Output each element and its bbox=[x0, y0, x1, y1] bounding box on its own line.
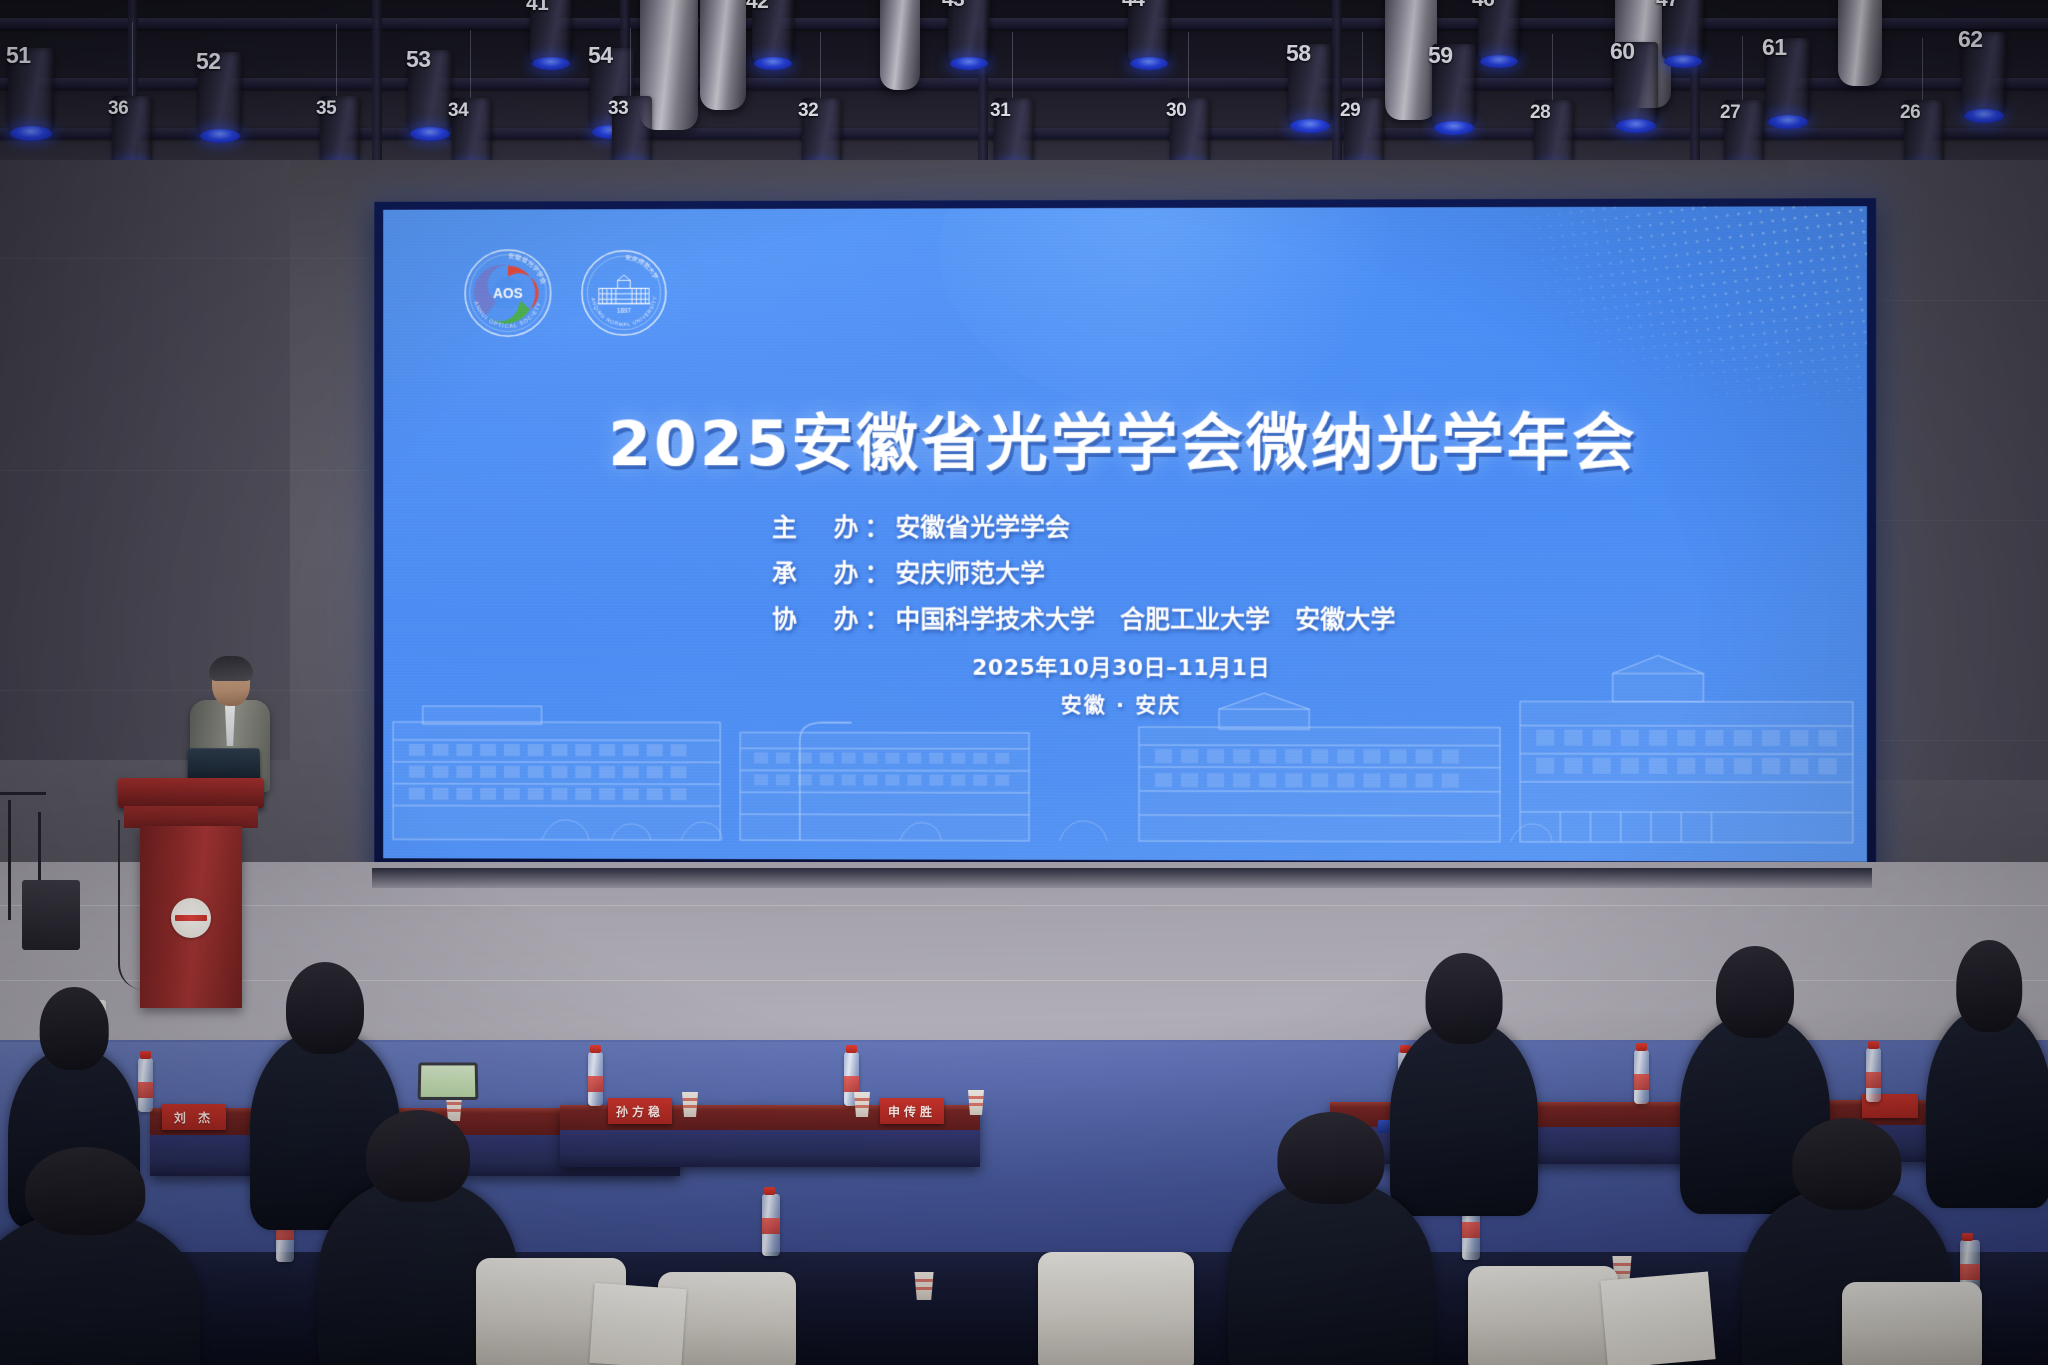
stage-light-number: 29 bbox=[1340, 100, 1360, 122]
stage-light-53: 53 bbox=[408, 50, 452, 132]
stage-light-47: 47 bbox=[1662, 0, 1704, 60]
name-card: 孙方稳 bbox=[608, 1098, 672, 1124]
stage-light-number: 31 bbox=[990, 100, 1010, 122]
slide-logos: AOS 安徽省光学学会 ANHUI OPTICAL SOCIETY bbox=[462, 247, 668, 339]
svg-text:AOS: AOS bbox=[493, 286, 523, 301]
stage-light-number: 60 bbox=[1610, 38, 1635, 65]
chair bbox=[1038, 1252, 1194, 1365]
stage-light-31: 31 bbox=[994, 98, 1034, 168]
svg-text:1897: 1897 bbox=[617, 308, 631, 315]
stage-light-number: 41 bbox=[526, 0, 548, 16]
organizer-value: 安徽省光学学会 bbox=[895, 513, 1070, 542]
stage-light-60: 60 bbox=[1614, 42, 1658, 124]
stage-light-35: 35 bbox=[320, 96, 360, 166]
hanging-fixture bbox=[700, 0, 746, 110]
lectern-top bbox=[118, 778, 264, 808]
organizer-row: 承 办：安庆师范大学 bbox=[772, 554, 1472, 590]
water-bottle bbox=[1866, 1048, 1881, 1102]
organizer-key: 承 办： bbox=[772, 559, 895, 588]
water-bottle bbox=[762, 1194, 780, 1256]
stage-light-number: 61 bbox=[1762, 34, 1787, 61]
chair bbox=[1468, 1266, 1618, 1365]
attendee-laptop bbox=[418, 1063, 479, 1100]
microphone-stand bbox=[8, 800, 11, 920]
lectern-mid bbox=[124, 806, 258, 828]
stage-light-number: 26 bbox=[1900, 102, 1920, 124]
stage-light-52: 52 bbox=[198, 52, 242, 134]
stage-light-number: 43 bbox=[942, 0, 964, 12]
aos-logo: AOS 安徽省光学学会 ANHUI OPTICAL SOCIETY bbox=[462, 247, 553, 339]
stage-light-number: 46 bbox=[1472, 0, 1494, 12]
stage-light-number: 44 bbox=[1122, 0, 1144, 12]
screen-base-shadow bbox=[372, 868, 1872, 888]
campus-line-art bbox=[383, 644, 1867, 861]
program-booklet bbox=[1600, 1271, 1715, 1365]
stage-light-number: 35 bbox=[316, 98, 336, 120]
stage-light-33: 33 bbox=[612, 96, 652, 166]
name-card: 申传胜 bbox=[880, 1098, 944, 1124]
stage-light-44: 44 bbox=[1128, 0, 1170, 62]
stage-light-58: 58 bbox=[1288, 44, 1332, 124]
stage-light-32: 32 bbox=[802, 98, 842, 168]
microphone-boom bbox=[0, 792, 46, 795]
program-booklet bbox=[589, 1283, 686, 1365]
slide-headline: 2025安徽省光学学会微纳光学年会 bbox=[383, 392, 1867, 483]
stage-light-59: 59 bbox=[1432, 44, 1476, 126]
stage-light-number: 33 bbox=[608, 98, 628, 120]
stage-light-number: 62 bbox=[1958, 26, 1983, 53]
hanging-fixture bbox=[880, 0, 920, 90]
stage-light-42: 42 bbox=[752, 0, 794, 62]
attendee bbox=[1390, 1020, 1538, 1216]
slide-organizers: 主 办：安徽省光学学会 承 办：安庆师范大学 协 办：中国科学技术大学 合肥工业… bbox=[383, 508, 1867, 637]
stage-light-number: 59 bbox=[1428, 42, 1453, 69]
stage-light-46: 46 bbox=[1478, 0, 1520, 60]
water-bottle bbox=[138, 1058, 153, 1112]
stage-light-number: 34 bbox=[448, 100, 468, 122]
slide-surface: AOS 安徽省光学学会 ANHUI OPTICAL SOCIETY bbox=[383, 206, 1867, 862]
name-card: 刘 杰 bbox=[162, 1104, 226, 1130]
led-presentation-screen: AOS 安徽省光学学会 ANHUI OPTICAL SOCIETY bbox=[374, 198, 1876, 872]
stage-light-number: 27 bbox=[1720, 102, 1740, 124]
anqing-normal-university-logo: 1897 安庆师范大学 ANQING NORMAL UNIVERSITY bbox=[579, 248, 668, 338]
stage-light-51: 51 bbox=[8, 48, 54, 132]
stage-light-number: 32 bbox=[798, 100, 818, 122]
stage-light-41: 41 bbox=[530, 0, 572, 62]
lectern bbox=[128, 778, 254, 1008]
presenter-hair bbox=[209, 656, 253, 681]
stage-light-number: 28 bbox=[1530, 102, 1550, 124]
organizer-key: 主 办： bbox=[772, 513, 895, 542]
stage-light-number: 47 bbox=[1656, 0, 1678, 12]
stage-light-34: 34 bbox=[452, 98, 492, 168]
stage-light-number: 51 bbox=[6, 42, 31, 69]
stage-light-number: 36 bbox=[108, 98, 128, 120]
organizer-row: 协 办：中国科学技术大学 合肥工业大学 安徽大学 bbox=[772, 600, 1472, 636]
svg-text:安庆师范大学: 安庆师范大学 bbox=[625, 253, 661, 281]
organizer-key: 协 办： bbox=[772, 605, 895, 634]
organizer-value: 中国科学技术大学 合肥工业大学 安徽大学 bbox=[895, 605, 1395, 634]
stage-light-62: 62 bbox=[1962, 32, 2006, 114]
stage-lighting-truss: 51 52 53 54 41 42 43 bbox=[0, 0, 2048, 185]
hanging-fixture bbox=[1838, 0, 1882, 86]
water-bottle bbox=[1634, 1050, 1649, 1104]
attendee bbox=[1926, 1008, 2048, 1208]
stage-light-number: 58 bbox=[1286, 40, 1311, 67]
stage-light-61: 61 bbox=[1766, 38, 1810, 120]
organizer-value: 安庆师范大学 bbox=[895, 559, 1045, 588]
stage-light-29: 29 bbox=[1344, 98, 1384, 168]
chair bbox=[1842, 1282, 1982, 1365]
organizer-row: 主 办：安徽省光学学会 bbox=[772, 508, 1472, 544]
lectern-emblem bbox=[171, 898, 211, 938]
conference-hall-photo: 51 52 53 54 41 42 43 bbox=[0, 0, 2048, 1365]
stage-light-number: 30 bbox=[1166, 100, 1186, 122]
stage-light-36: 36 bbox=[112, 96, 152, 166]
stage-light-number: 52 bbox=[196, 48, 221, 75]
stage-light-number: 42 bbox=[746, 0, 768, 14]
equipment-case bbox=[22, 880, 80, 950]
power-cable bbox=[118, 820, 144, 990]
lectern-column bbox=[140, 826, 242, 1008]
stage-light-30: 30 bbox=[1170, 98, 1210, 168]
water-bottle bbox=[588, 1052, 603, 1106]
stage-light-43: 43 bbox=[948, 0, 990, 62]
stage-light-number: 53 bbox=[406, 46, 431, 73]
podium-laptop bbox=[188, 748, 261, 782]
attendee-front-row bbox=[1228, 1180, 1434, 1365]
stage-light-number: 54 bbox=[588, 42, 613, 69]
